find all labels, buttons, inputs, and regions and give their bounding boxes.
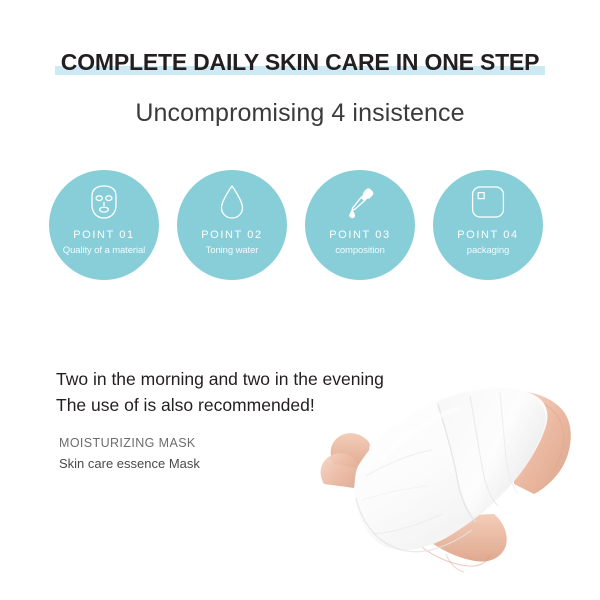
- product-block: MOISTURIZING MASK Skin care essence Mask: [59, 433, 359, 474]
- point-item-02: POINT 02 Toning water: [177, 170, 287, 280]
- packaging-pouch-icon: [433, 184, 543, 220]
- point-subtitle: Quality of a material: [49, 244, 159, 257]
- point-subtitle: Toning water: [177, 244, 287, 257]
- points-row: POINT 01 Quality of a material POINT 02 …: [49, 170, 561, 282]
- product-description: Skin care essence Mask: [59, 453, 359, 474]
- face-mask-sheet-icon: [49, 184, 159, 220]
- page-subtitle: Uncompromising 4 insistence: [0, 97, 600, 129]
- headline-inner: COMPLETE DAILY SKIN CARE IN ONE STEP: [59, 48, 541, 76]
- point-title: POINT 01: [49, 228, 159, 242]
- point-item-04: POINT 04 packaging: [433, 170, 543, 280]
- point-subtitle: packaging: [433, 244, 543, 257]
- product-name: MOISTURIZING MASK: [59, 433, 359, 453]
- point-title: POINT 03: [305, 228, 415, 242]
- infographic-page: COMPLETE DAILY SKIN CARE IN ONE STEP Unc…: [0, 0, 600, 600]
- point-title: POINT 02: [177, 228, 287, 242]
- dropper-pipette-icon: [305, 184, 415, 220]
- product-photo: [318, 368, 600, 600]
- point-item-01: POINT 01 Quality of a material: [49, 170, 159, 280]
- page-title: COMPLETE DAILY SKIN CARE IN ONE STEP: [61, 49, 539, 75]
- water-drop-icon: [177, 184, 287, 220]
- point-subtitle: composition: [305, 244, 415, 257]
- point-title: POINT 04: [433, 228, 543, 242]
- point-item-03: POINT 03 composition: [305, 170, 415, 280]
- headline-block: COMPLETE DAILY SKIN CARE IN ONE STEP: [0, 48, 600, 76]
